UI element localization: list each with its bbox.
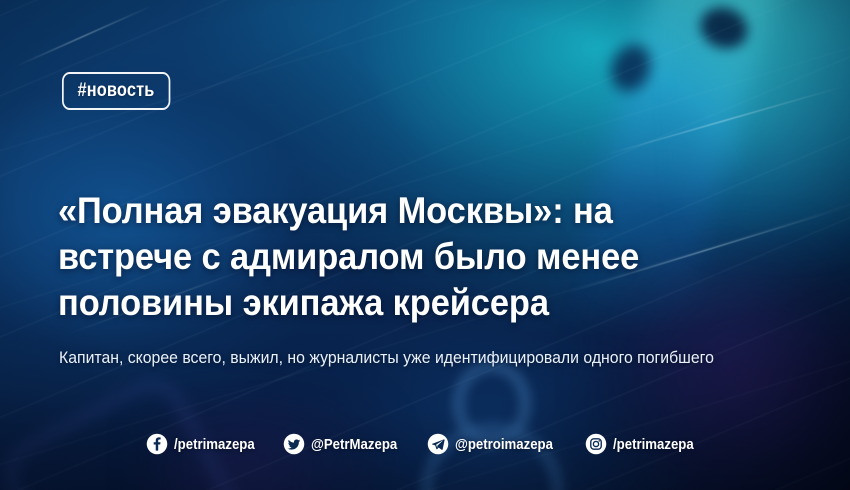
- social-handle-facebook: /petrimazepa: [174, 436, 255, 453]
- social-bar: /petrimazepa @PetrMazepa @petroimazepa: [0, 433, 850, 455]
- facebook-icon: [146, 433, 168, 455]
- social-handle-telegram: @petroimazepa: [455, 436, 553, 453]
- category-badge[interactable]: #новость: [62, 72, 170, 110]
- news-card: #новость «Полная эвакуация Москвы»: на в…: [0, 0, 850, 490]
- social-handle-instagram: /petrimazepa: [613, 436, 694, 453]
- page-subtitle: Капитан, скорее всего, выжил, но журнали…: [59, 347, 747, 369]
- social-item-facebook[interactable]: /petrimazepa: [146, 433, 266, 455]
- social-handle-twitter: @PetrMazepa: [311, 436, 397, 453]
- page-title: «Полная эвакуация Москвы»: на встрече с …: [58, 188, 709, 326]
- social-item-twitter[interactable]: @PetrMazepa: [283, 433, 409, 455]
- social-item-instagram[interactable]: /petrimazepa: [585, 433, 705, 455]
- twitter-icon: [283, 433, 305, 455]
- social-item-telegram[interactable]: @petroimazepa: [427, 433, 566, 455]
- telegram-icon: [427, 433, 449, 455]
- card-content: #новость «Полная эвакуация Москвы»: на в…: [0, 0, 850, 490]
- instagram-icon: [585, 433, 607, 455]
